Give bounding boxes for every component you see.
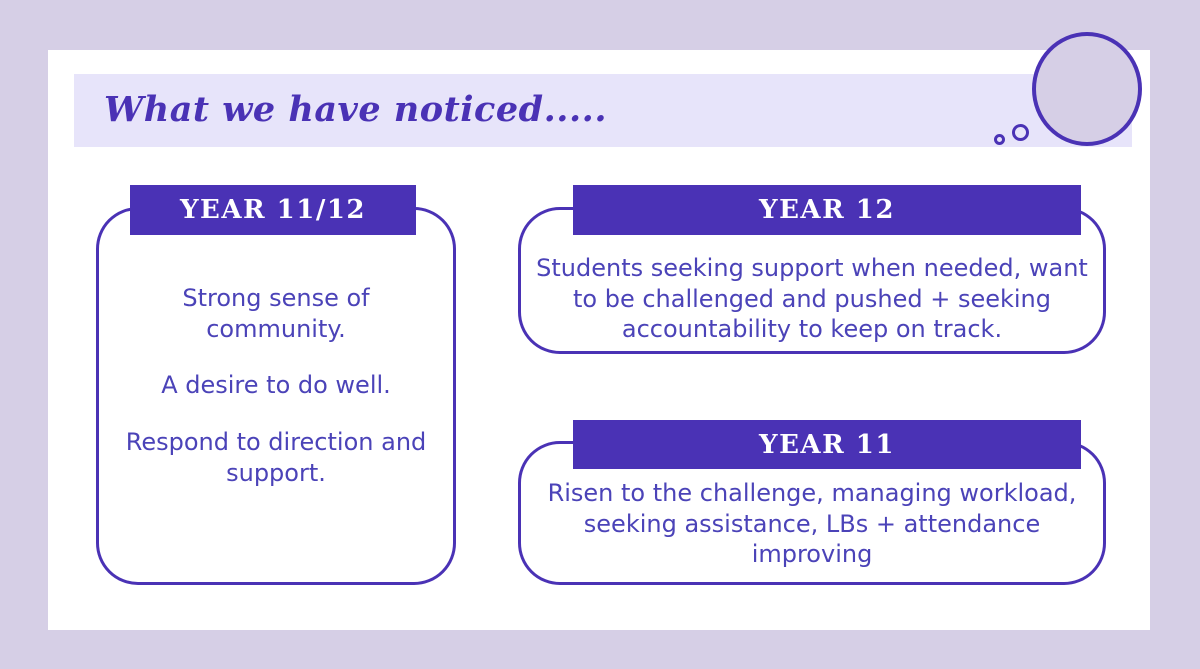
slide-canvas: What we have noticed..... YEAR 11/12 Str… — [0, 0, 1200, 669]
panel-paragraph: Students seeking support when needed, wa… — [528, 253, 1096, 345]
panel-paragraph: A desire to do well. — [110, 370, 442, 401]
panel-paragraph: Strong sense of community. — [110, 283, 442, 344]
panel-body-year-12: Students seeking support when needed, wa… — [528, 253, 1096, 345]
medium-circle-icon — [1012, 124, 1029, 141]
banner-year-11: YEAR 11 — [573, 420, 1081, 469]
page-title: What we have noticed..... — [104, 80, 804, 140]
banner-year-11-12: YEAR 11/12 — [130, 185, 416, 235]
large-circle-icon — [1032, 32, 1142, 146]
panel-body-year-11-12: Strong sense of community. A desire to d… — [110, 283, 442, 489]
panel-body-year-11: Risen to the challenge, managing workloa… — [528, 478, 1096, 570]
banner-year-12: YEAR 12 — [573, 185, 1081, 235]
panel-paragraph: Respond to direction and support. — [110, 427, 442, 488]
panel-paragraph: Risen to the challenge, managing workloa… — [528, 478, 1096, 570]
small-circle-icon — [994, 134, 1005, 145]
